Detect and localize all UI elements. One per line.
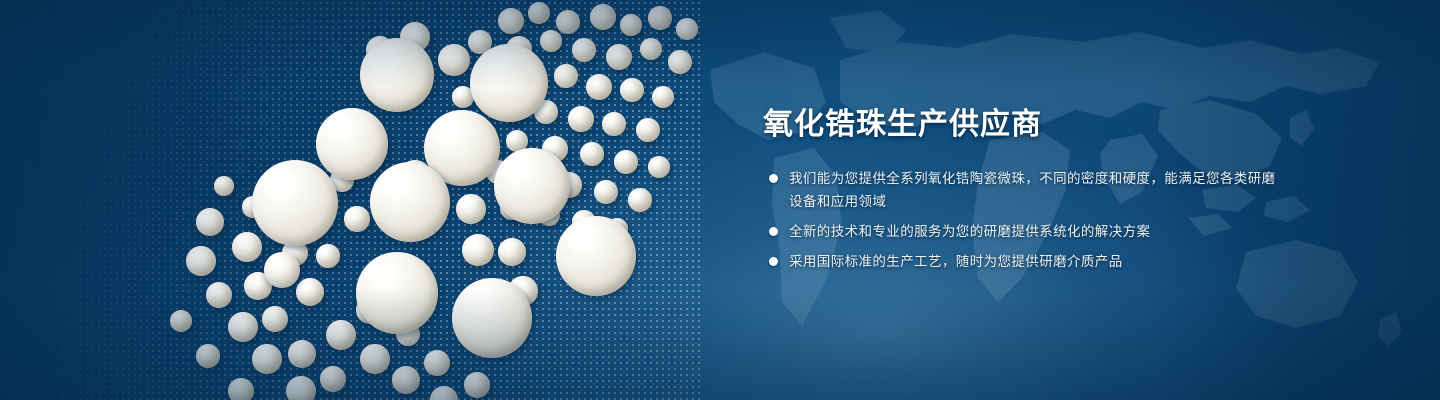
feature-list: 我们能为您提供全系列氧化锆陶瓷微珠，不同的密度和硬度，能满足您各类研磨设备和应用…: [763, 167, 1283, 273]
bullet-dot-icon: [769, 227, 778, 236]
list-item: 全新的技术和专业的服务为您的研磨提供系统化的解决方案: [763, 220, 1283, 243]
list-item-label: 采用国际标准的生产工艺，随时为您提供研磨介质产品: [789, 254, 1123, 269]
page-title: 氧化锆珠生产供应商: [763, 108, 1283, 141]
list-item-label: 我们能为您提供全系列氧化锆陶瓷微珠，不同的密度和硬度，能满足您各类研磨设备和应用…: [789, 171, 1276, 209]
list-item-label: 全新的技术和专业的服务为您的研磨提供系统化的解决方案: [789, 224, 1150, 239]
bullet-dot-icon: [769, 257, 778, 266]
bullet-dot-icon: [769, 174, 778, 183]
list-item: 我们能为您提供全系列氧化锆陶瓷微珠，不同的密度和硬度，能满足您各类研磨设备和应用…: [763, 167, 1283, 213]
banner-content: 氧化锆珠生产供应商 我们能为您提供全系列氧化锆陶瓷微珠，不同的密度和硬度，能满足…: [763, 108, 1283, 273]
hero-banner: 氧化锆珠生产供应商 我们能为您提供全系列氧化锆陶瓷微珠，不同的密度和硬度，能满足…: [0, 0, 1440, 400]
list-item: 采用国际标准的生产工艺，随时为您提供研磨介质产品: [763, 250, 1283, 273]
